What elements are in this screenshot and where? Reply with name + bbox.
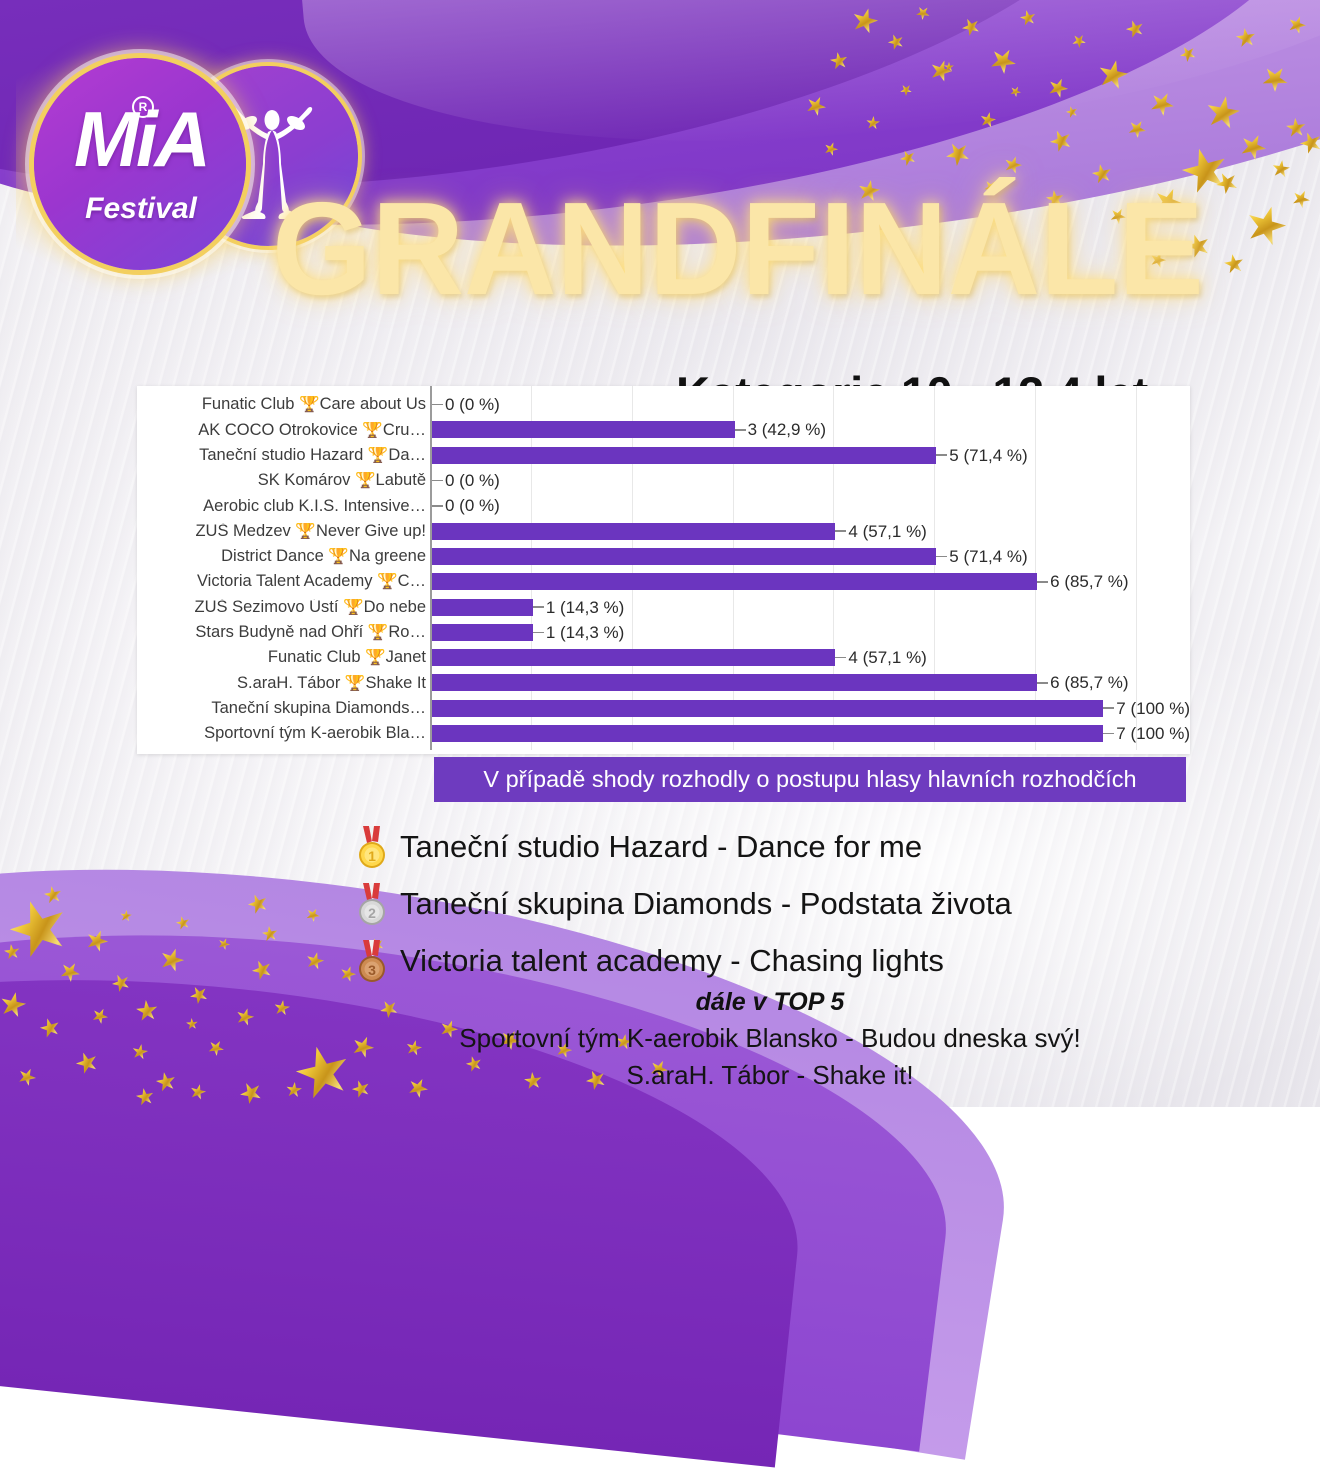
chart-category-label: Stars Budyně nad Ohří 🏆Ro… bbox=[140, 624, 426, 641]
chart-bar-track: 5 (71,4 %) bbox=[432, 544, 1190, 569]
chart-bar-row: SK Komárov 🏆Labutě0 (0 %) bbox=[137, 468, 1190, 493]
chart-category-label: Funatic Club 🏆Care about Us bbox=[140, 396, 426, 413]
chart-label-connector bbox=[432, 480, 443, 482]
gold-medal-icon: 1 bbox=[352, 824, 392, 870]
chart-data-label: 5 (71,4 %) bbox=[947, 548, 1027, 565]
chart-category-label: ZUŠ Sezimovo Ústí 🏆Do nebe bbox=[140, 599, 426, 616]
chart-bar-track: 0 (0 %) bbox=[432, 468, 1190, 493]
chart-data-label: 4 (57,1 %) bbox=[846, 523, 926, 540]
top5-lines: Sportovní tým K-aerobik Blansko - Budou … bbox=[260, 1023, 1280, 1091]
chart-bar-row: Aerobic club K.I.S. Intensive…0 (0 %) bbox=[137, 493, 1190, 518]
chart-category-label: District Dance 🏆Na greene bbox=[140, 548, 426, 565]
chart-label-connector bbox=[1103, 707, 1114, 709]
chart-category-label: S.araH. Tábor 🏆Shake It bbox=[140, 675, 426, 692]
chart-bar-row: Funatic Club 🏆Care about Us0 (0 %) bbox=[137, 392, 1190, 417]
chart-bar-track: 1 (14,3 %) bbox=[432, 594, 1190, 619]
chart-plot-area: Funatic Club 🏆Care about Us0 (0 %)AK COC… bbox=[137, 386, 1190, 754]
chart-data-label: 0 (0 %) bbox=[443, 472, 500, 489]
chart-data-label: 1 (14,3 %) bbox=[544, 599, 624, 616]
chart-bar-track: 7 (100 %) bbox=[432, 696, 1190, 721]
svg-text:2: 2 bbox=[368, 905, 376, 921]
chart-label-connector bbox=[835, 530, 846, 532]
top5-footer: dále v TOP 5 Sportovní tým K-aerobik Bla… bbox=[260, 988, 1280, 1091]
winner-row: 2Taneční skupina Diamonds - Podstata živ… bbox=[352, 875, 1252, 932]
svg-text:1: 1 bbox=[368, 848, 376, 864]
chart-bar-track: 7 (100 %) bbox=[432, 721, 1190, 746]
chart-data-label: 4 (57,1 %) bbox=[846, 649, 926, 666]
chart-data-label: 7 (100 %) bbox=[1114, 725, 1190, 742]
chart-bar bbox=[432, 624, 533, 641]
top5-entry: S.araH. Tábor - Shake it! bbox=[260, 1060, 1280, 1091]
chart-bar-row: Taneční studio Hazard 🏆Da…5 (71,4 %) bbox=[137, 443, 1190, 468]
chart-data-label: 0 (0 %) bbox=[443, 396, 500, 413]
chart-bar-track: 1 (14,3 %) bbox=[432, 620, 1190, 645]
chart-bar bbox=[432, 649, 835, 666]
chart-bar-row: ZUŠ Medzev 🏆Never Give up!4 (57,1 %) bbox=[137, 519, 1190, 544]
chart-label-connector bbox=[1037, 581, 1048, 583]
chart-category-label: SK Komárov 🏆Labutě bbox=[140, 472, 426, 489]
chart-bar-row: Victoria Talent Academy 🏆C…6 (85,7 %) bbox=[137, 569, 1190, 594]
chart-bar bbox=[432, 523, 835, 540]
chart-data-label: 6 (85,7 %) bbox=[1048, 674, 1128, 691]
logo-subtitle-text: Festival bbox=[46, 192, 236, 226]
chart-label-connector bbox=[432, 404, 443, 406]
svg-text:3: 3 bbox=[368, 962, 376, 978]
chart-category-label: Taneční skupina Diamonds… bbox=[140, 700, 426, 717]
chart-label-connector bbox=[533, 632, 544, 634]
chart-bar bbox=[432, 599, 533, 616]
top5-entry: Sportovní tým K-aerobik Blansko - Budou … bbox=[260, 1023, 1280, 1054]
chart-bar-row: S.araH. Tábor 🏆Shake It6 (85,7 %) bbox=[137, 670, 1190, 695]
winner-row: 1Taneční studio Hazard - Dance for me bbox=[352, 818, 1252, 875]
chart-bar-track: 4 (57,1 %) bbox=[432, 645, 1190, 670]
chart-bar bbox=[432, 573, 1037, 590]
page-title: GRANDFINÁLE bbox=[272, 188, 1038, 309]
chart-bar bbox=[432, 725, 1103, 742]
tie-break-note: V případě shody rozhodly o postupu hlasy… bbox=[434, 757, 1186, 802]
chart-bar bbox=[432, 421, 735, 438]
chart-bar-row: Stars Budyně nad Ohří 🏆Ro…1 (14,3 %) bbox=[137, 620, 1190, 645]
chart-bar bbox=[432, 548, 936, 565]
chart-bar bbox=[432, 674, 1037, 691]
chart-label-connector bbox=[432, 505, 443, 507]
chart-label-connector bbox=[835, 657, 846, 659]
chart-data-label: 7 (100 %) bbox=[1114, 700, 1190, 717]
chart-category-label: Aerobic club K.I.S. Intensive… bbox=[140, 498, 426, 515]
chart-bar-track: 0 (0 %) bbox=[432, 493, 1190, 518]
chart-category-label: Sportovní tým K-aerobik Bla… bbox=[140, 725, 426, 742]
chart-bar bbox=[432, 447, 936, 464]
winner-name: Taneční skupina Diamonds - Podstata živo… bbox=[400, 886, 1012, 922]
chart-category-label: AK COCO Otrokovice 🏆Cru… bbox=[140, 422, 426, 439]
chart-label-connector bbox=[936, 556, 947, 558]
chart-data-label: 1 (14,3 %) bbox=[544, 624, 624, 641]
chart-label-connector bbox=[1103, 733, 1114, 735]
chart-label-connector bbox=[533, 606, 544, 608]
chart-bar-row: AK COCO Otrokovice 🏆Cru…3 (42,9 %) bbox=[137, 417, 1190, 442]
winners-list: 1Taneční studio Hazard - Dance for me2Ta… bbox=[352, 818, 1252, 989]
winner-name: Taneční studio Hazard - Dance for me bbox=[400, 829, 922, 865]
silver-medal-icon: 2 bbox=[352, 881, 392, 927]
chart-bar-row: ZUŠ Sezimovo Ústí 🏆Do nebe1 (14,3 %) bbox=[137, 594, 1190, 619]
chart-bar-row: District Dance 🏆Na greene5 (71,4 %) bbox=[137, 544, 1190, 569]
chart-bar-track: 5 (71,4 %) bbox=[432, 443, 1190, 468]
chart-label-connector bbox=[1037, 682, 1048, 684]
chart-category-label: Funatic Club 🏆Janet bbox=[140, 649, 426, 666]
registered-trademark-icon: R bbox=[132, 96, 154, 118]
chart-bar-track: 0 (0 %) bbox=[432, 392, 1190, 417]
chart-data-label: 6 (85,7 %) bbox=[1048, 573, 1128, 590]
chart-category-label: ZUŠ Medzev 🏆Never Give up! bbox=[140, 523, 426, 540]
chart-bar-track: 6 (85,7 %) bbox=[432, 569, 1190, 594]
chart-bar bbox=[432, 700, 1103, 717]
chart-label-connector bbox=[735, 429, 746, 431]
chart-bar-row: Funatic Club 🏆Janet4 (57,1 %) bbox=[137, 645, 1190, 670]
votes-bar-chart: Funatic Club 🏆Care about Us0 (0 %)AK COC… bbox=[137, 386, 1190, 754]
bronze-medal-icon: 3 bbox=[352, 938, 392, 984]
chart-data-label: 3 (42,9 %) bbox=[746, 421, 826, 438]
chart-data-label: 5 (71,4 %) bbox=[947, 447, 1027, 464]
winner-row: 3Victoria talent academy - Chasing light… bbox=[352, 932, 1252, 989]
chart-label-connector bbox=[936, 454, 947, 456]
chart-bar-row: Taneční skupina Diamonds…7 (100 %) bbox=[137, 696, 1190, 721]
chart-bar-track: 4 (57,1 %) bbox=[432, 519, 1190, 544]
top5-heading: dále v TOP 5 bbox=[260, 988, 1280, 1017]
chart-data-label: 0 (0 %) bbox=[443, 497, 500, 514]
chart-bar-track: 3 (42,9 %) bbox=[432, 417, 1190, 442]
chart-bar-row: Sportovní tým K-aerobik Bla…7 (100 %) bbox=[137, 721, 1190, 746]
winner-name: Victoria talent academy - Chasing lights bbox=[400, 943, 944, 979]
chart-category-label: Taneční studio Hazard 🏆Da… bbox=[140, 447, 426, 464]
chart-category-label: Victoria Talent Academy 🏆C… bbox=[140, 573, 426, 590]
chart-bar-track: 6 (85,7 %) bbox=[432, 670, 1190, 695]
